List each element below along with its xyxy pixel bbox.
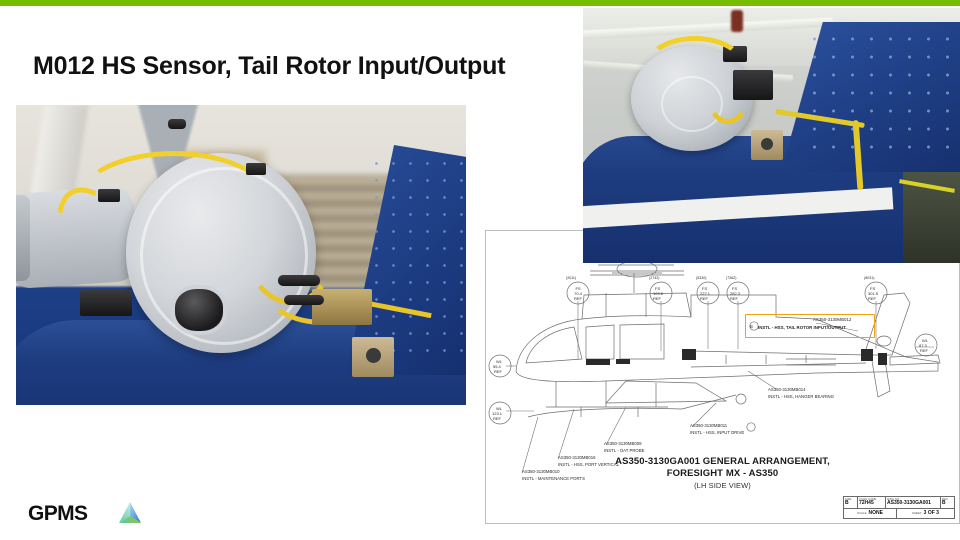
photo-left-sensor-block-right — [312, 289, 372, 325]
callout-2-desc: INSTL - OAT PROBE — [604, 448, 645, 453]
station-tag-2: (5330) — [696, 276, 706, 280]
photo-left-sensor-lead-1 — [278, 275, 320, 286]
station-tag-3: (7362) — [726, 276, 736, 280]
highlight-item-letter: B — [750, 324, 753, 329]
station-2-line3: REF — [700, 296, 716, 301]
title-block-size-value: B — [845, 501, 856, 506]
highlight-part-number: AS350-3130MB012 — [813, 317, 851, 322]
title-block-size: SIZE B — [844, 497, 858, 508]
callout-0-desc: INSTL - HSS, HANGER BEARING — [768, 394, 834, 399]
title-block-scale: SCALE NONE — [844, 509, 897, 520]
station-6-line3: REF — [494, 369, 502, 374]
title-block-scale-label: SCALE — [857, 512, 866, 515]
general-arrangement-diagram: (2011) FS 70.4 REF (2742) FS 103.6 REF (… — [485, 230, 960, 524]
drawing-title-block: SIZE B CAGE CODE 72H45 DWG NO. AS350-313… — [843, 496, 955, 519]
photo-right-hoist — [731, 10, 743, 32]
station-0-line3: REF — [570, 296, 586, 301]
title-block-row-2: SCALE NONE SHEET 3 OF 3 — [844, 509, 954, 520]
photo-right-cable-mid — [703, 44, 753, 124]
callout-1-desc: INSTL - HSS, INPUT DRIVE — [690, 430, 744, 435]
photo-left-bracket-hole — [366, 348, 381, 363]
diagram-caption-line3: (LH SIDE VIEW) — [486, 480, 959, 492]
title-block-sheet: SHEET 3 OF 3 — [897, 509, 954, 520]
title-block-dwg: DWG NO. AS350-3130GA001 — [886, 497, 941, 508]
photo-left-flange — [16, 195, 30, 281]
station-3-line3: REF — [730, 296, 746, 301]
diagram-caption: AS350-3130GA001 GENERAL ARRANGEMENT, FOR… — [486, 456, 959, 492]
title-block-sheet-label: SHEET — [912, 512, 922, 515]
photo-tail-rotor-install-wide — [583, 8, 960, 263]
callout-0-part: AS350-3130MB014 — [768, 387, 806, 392]
station-1-line3: REF — [653, 296, 669, 301]
photo-right-bracket-hole — [761, 138, 773, 150]
station-tag-1: (2742) — [649, 276, 659, 280]
station-tag-0: (2011) — [566, 276, 576, 280]
highlight-description: INSTL - HSS, TAIL ROTOR INPUT/OUTPUT — [758, 325, 846, 330]
photo-left-output-hub — [171, 285, 227, 335]
title-block-scale-value: NONE — [869, 511, 883, 516]
top-accent-bar — [0, 0, 960, 6]
station-4-line3: REF — [868, 296, 884, 301]
photo-left-connector-1 — [98, 189, 120, 202]
callout-2-part: AS350-3130MB009 — [604, 441, 642, 446]
slide-canvas: (2011) FS 70.4 REF (2742) FS 103.6 REF (… — [0, 0, 960, 540]
photo-left-sensor-lead-2 — [284, 295, 324, 305]
title-block-rev: REV B — [941, 497, 954, 508]
gpms-wordmark: GPMS — [28, 502, 87, 526]
station-tag-4: (8031) — [864, 276, 874, 280]
title-block-dwg-value: AS350-3130GA001 — [887, 501, 939, 506]
title-block-rev-value: B — [942, 501, 953, 506]
photo-left-sensor-block-left — [80, 290, 132, 316]
title-block-sheet-value: 3 OF 3 — [924, 511, 939, 516]
photo-left-fin-rivets — [368, 155, 466, 365]
diagram-caption-line2: FORESIGHT MX - AS350 — [486, 468, 959, 480]
page-title: M012 HS Sensor, Tail Rotor Input/Output — [33, 52, 633, 81]
title-block-row-1: SIZE B CAGE CODE 72H45 DWG NO. AS350-313… — [844, 497, 954, 509]
photo-left-bolt-top — [168, 119, 186, 129]
title-block-cage: CAGE CODE 72H45 — [858, 497, 886, 508]
photo-right-fin-rivets — [805, 30, 960, 160]
photo-left-connector-2 — [246, 163, 266, 175]
station-5-line3: REF — [920, 348, 928, 353]
gpms-logo: GPMS — [28, 498, 158, 528]
station-7-line3: REF — [493, 416, 501, 421]
callout-1-part: AS350-3130MB011 — [690, 423, 727, 428]
rotor-triangle-icon — [116, 500, 144, 526]
diagram-caption-line1: AS350-3130GA001 GENERAL ARRANGEMENT, — [486, 456, 959, 468]
title-block-cage-value: 72H45 — [859, 501, 884, 506]
photo-tail-rotor-gearbox-closeup — [16, 105, 466, 405]
